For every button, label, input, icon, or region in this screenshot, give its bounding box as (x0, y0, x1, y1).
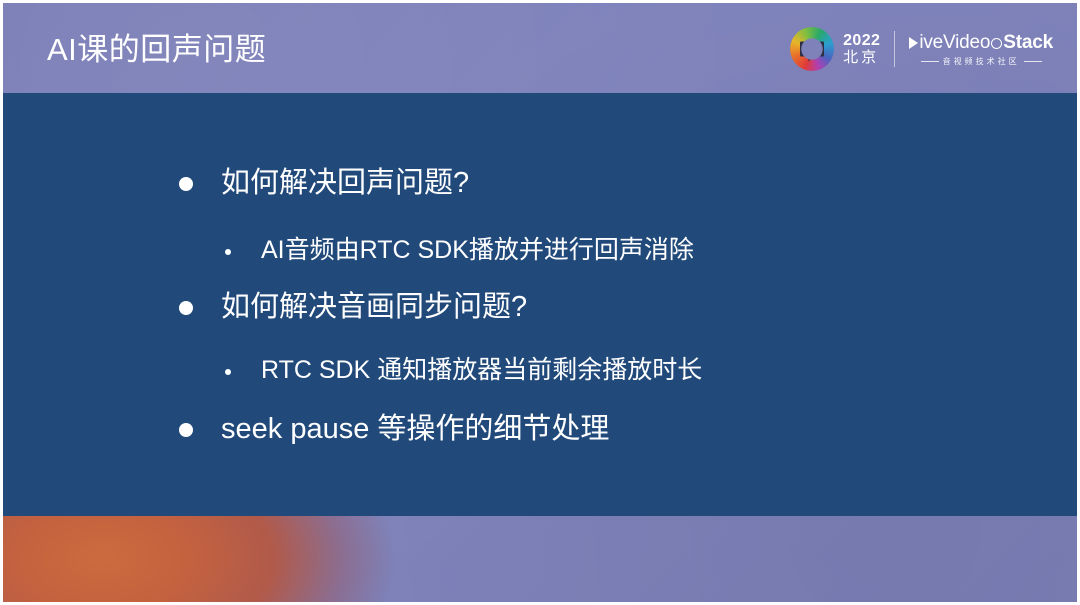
bullet-dot-icon (179, 301, 193, 315)
page-title: AI课的回声问题 (47, 34, 266, 65)
bullet-item-2: AI音频由RTC SDK播放并进行回声消除 (225, 235, 694, 266)
lvs-word-video: Video (943, 32, 990, 54)
sub-bullet-text: AI音频由RTC SDK播放并进行回声消除 (261, 235, 694, 266)
sub-bullet-dot-icon (225, 249, 231, 255)
brand-bar: 2022 北京 iveVideoStack 音视频技术社区 (790, 25, 1053, 73)
livevideostack-subtitle: 音视频技术社区 (943, 56, 1020, 67)
play-triangle-icon (909, 37, 918, 49)
bullet-text: 如何解决音画同步问题? (221, 289, 527, 325)
bullet-dot-icon (179, 423, 193, 437)
bullet-dot-icon (179, 177, 193, 191)
bullet-text: 如何解决回声问题? (221, 165, 469, 201)
lvs-word-live: ive (919, 32, 943, 54)
conference-year: 2022 (843, 32, 880, 50)
slide-header: AI课的回声问题 2022 北京 iveVideoStack 音视频技术社区 (3, 3, 1077, 93)
rule-right (1024, 61, 1042, 62)
speech-bubble-icon (800, 42, 824, 57)
bullet-item-1: 如何解决回声问题? (179, 165, 469, 201)
rule-left (921, 61, 939, 62)
bullet-item-3: 如何解决音画同步问题? (179, 289, 527, 325)
livevideostack-logo: iveVideoStack 音视频技术社区 (909, 32, 1053, 67)
lvs-word-stack: Stack (1003, 32, 1053, 54)
bullet-text: seek pause 等操作的细节处理 (221, 411, 609, 447)
conference-logo: 2022 北京 (790, 27, 880, 71)
conference-city: 北京 (843, 50, 880, 67)
livevideostack-wordmark: iveVideoStack (909, 32, 1053, 54)
bullet-item-5: seek pause 等操作的细节处理 (179, 411, 609, 447)
circle-dot-icon (991, 38, 1002, 49)
bullet-item-4: RTC SDK 通知播放器当前剩余播放时长 (225, 355, 702, 386)
conference-text: 2022 北京 (843, 32, 880, 67)
sub-bullet-dot-icon (225, 369, 231, 375)
slide-body: 如何解决回声问题? AI音频由RTC SDK播放并进行回声消除 如何解决音画同步… (3, 93, 1077, 516)
conference-ring-icon (790, 27, 834, 71)
presentation-slide: AI课的回声问题 2022 北京 iveVideoStack 音视频技术社区 (0, 0, 1080, 605)
brand-divider (894, 31, 895, 67)
livevideostack-subtitle-row: 音视频技术社区 (921, 56, 1042, 67)
sub-bullet-text: RTC SDK 通知播放器当前剩余播放时长 (261, 355, 702, 386)
